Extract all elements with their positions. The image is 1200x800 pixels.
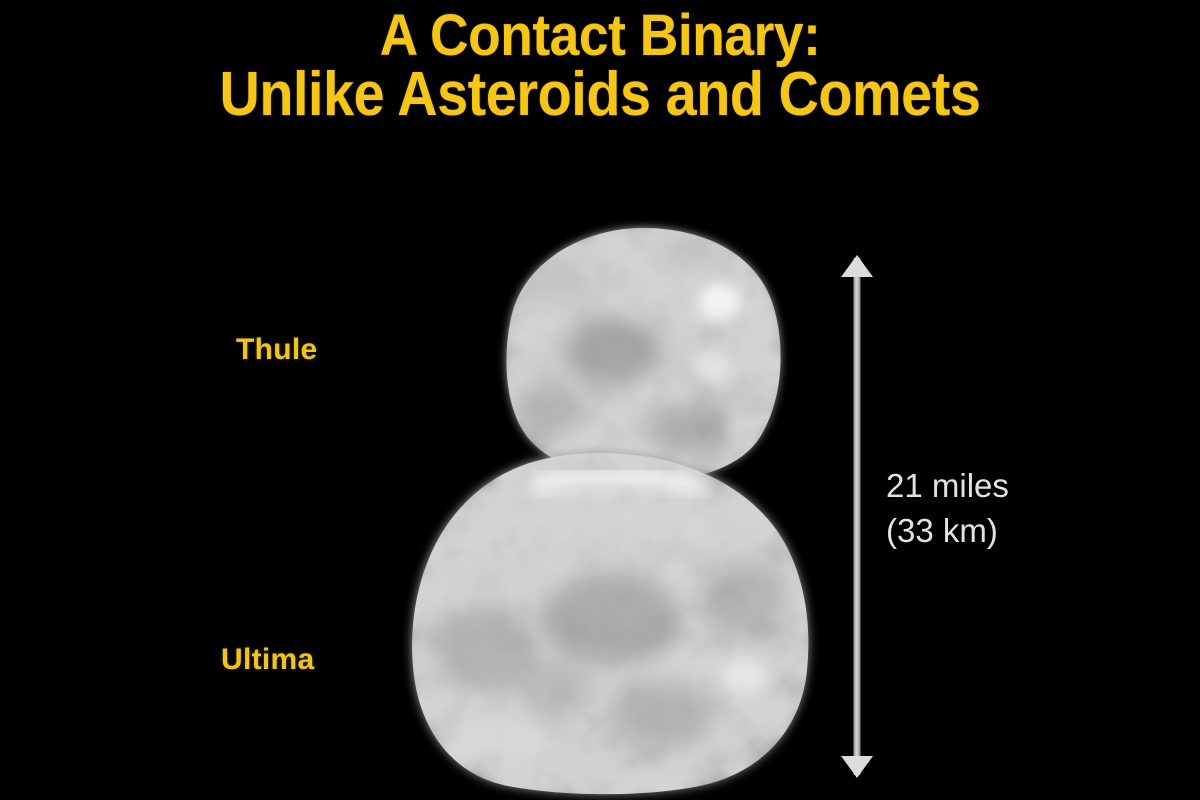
- label-ultima: Ultima: [221, 643, 315, 677]
- scale-bar-text: 21 miles (33 km): [886, 464, 1009, 554]
- scale-kilometers: (33 km): [886, 509, 1009, 554]
- label-thule: Thule: [236, 333, 318, 367]
- slide-canvas: A Contact Binary: Unlike Asteroids and C…: [0, 0, 1200, 800]
- slide-title: A Contact Binary: Unlike Asteroids and C…: [0, 8, 1200, 126]
- title-line-1: A Contact Binary:: [48, 8, 1152, 65]
- scale-miles: 21 miles: [886, 464, 1009, 509]
- title-line-2: Unlike Asteroids and Comets: [60, 65, 1140, 126]
